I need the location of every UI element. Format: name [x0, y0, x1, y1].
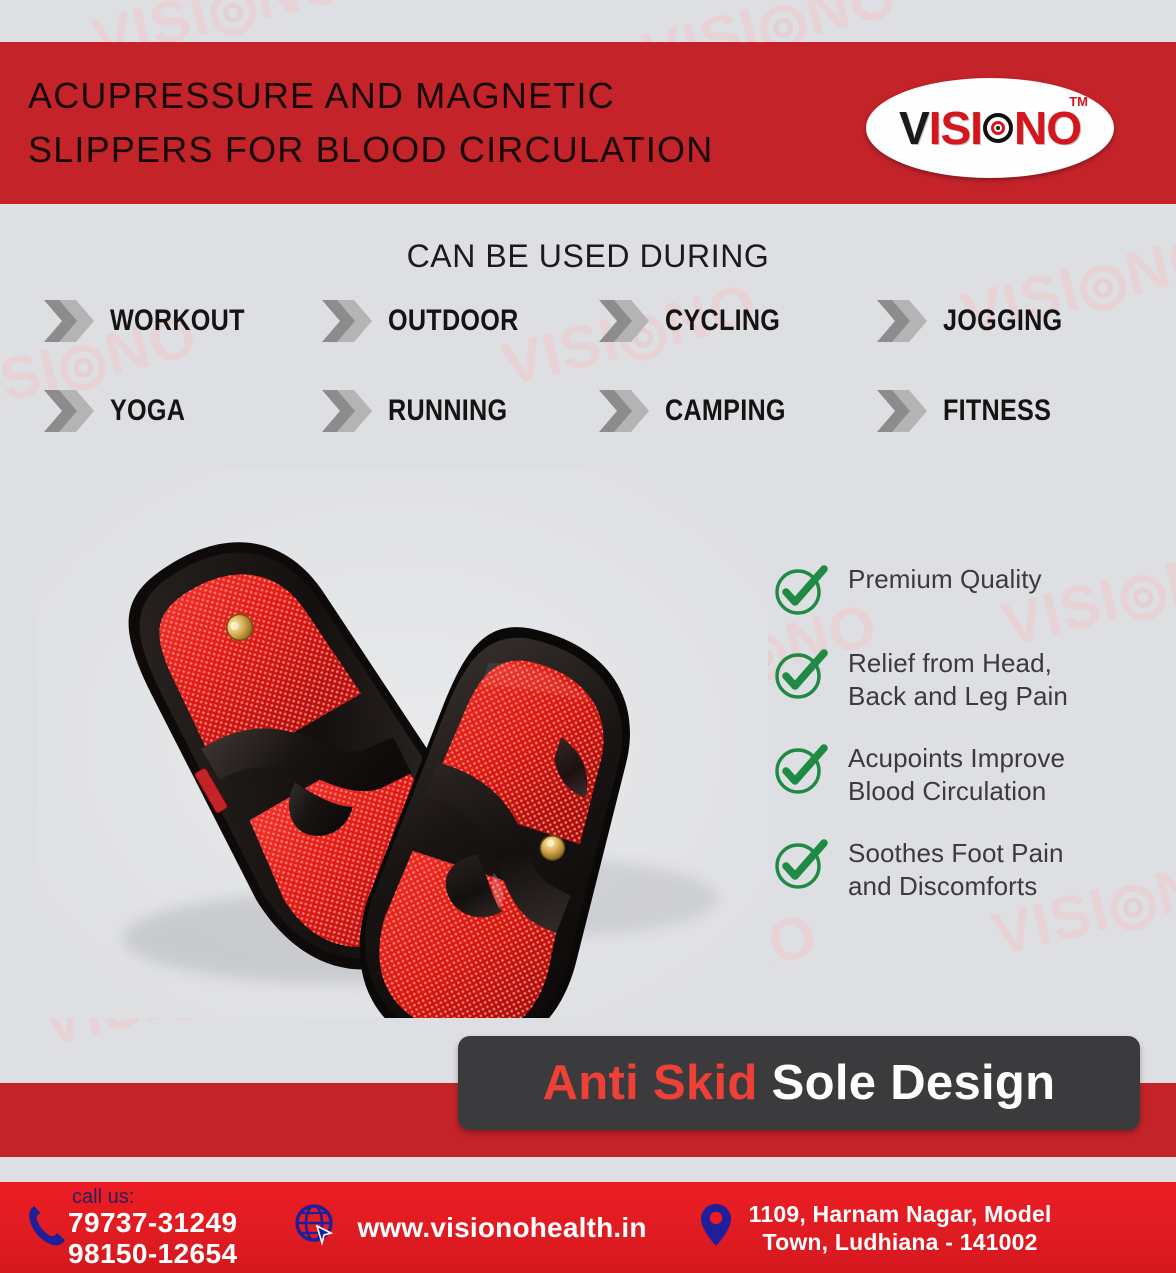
- benefit-item-foot-pain: Soothes Foot Pain and Discomforts: [772, 834, 1164, 903]
- usage-item-yoga: YOGA: [42, 388, 320, 434]
- usage-item-label: OUTDOOR: [388, 304, 519, 338]
- benefit-text: Premium Quality: [848, 560, 1042, 596]
- page-title: ACUPRESSURE AND MAGNETIC SLIPPERS FOR BL…: [28, 69, 788, 177]
- double-chevron-right-icon: [42, 388, 96, 434]
- double-chevron-right-icon: [875, 298, 929, 344]
- usage-item-label: FITNESS: [943, 394, 1051, 428]
- double-chevron-right-icon: [875, 388, 929, 434]
- double-chevron-right-icon: [42, 298, 96, 344]
- address-text: 1109, Harnam Nagar, Model Town, Ludhiana…: [749, 1200, 1052, 1256]
- usage-item-label: CYCLING: [665, 304, 780, 338]
- benefit-item-blood-circulation: Acupoints Improve Blood Circulation: [772, 739, 1164, 808]
- address-line-2: Town, Ludhiana - 141002: [749, 1228, 1052, 1256]
- logo-letter-v: V: [899, 105, 929, 151]
- usage-item-camping: CAMPING: [597, 388, 875, 434]
- green-check-circle-icon: [772, 741, 828, 797]
- benefit-line: Premium Quality: [848, 564, 1042, 594]
- globe-cursor-icon: [293, 1202, 339, 1253]
- page-title-line2: SLIPPERS FOR BLOOD CIRCULATION: [28, 123, 788, 177]
- website-url[interactable]: www.visionohealth.in: [357, 1212, 646, 1244]
- usage-list: WORKOUT OUTDOOR CYCLING JOGGING YOGA: [42, 298, 1152, 434]
- benefit-item-pain-relief: Relief from Head, Back and Leg Pain: [772, 644, 1164, 713]
- map-pin-icon: [699, 1201, 733, 1254]
- logo-letter-o: O: [1046, 105, 1081, 151]
- benefit-line: and Discomforts: [848, 871, 1037, 901]
- green-check-circle-icon: [772, 836, 828, 892]
- usage-item-cycling: CYCLING: [597, 298, 875, 344]
- usage-item-jogging: JOGGING: [875, 298, 1153, 344]
- page-title-line1: ACUPRESSURE AND MAGNETIC: [28, 75, 615, 116]
- footer-phone-text: call us: 79737-31249 98150-12654: [68, 1187, 237, 1269]
- logo-letters-isi: ISI: [929, 105, 982, 151]
- footer-website-block[interactable]: www.visionohealth.in: [293, 1202, 646, 1253]
- usage-section-heading: CAN BE USED DURING: [0, 238, 1176, 275]
- benefit-text: Acupoints Improve Blood Circulation: [848, 739, 1065, 808]
- brand-logo: VISINO TM: [866, 78, 1114, 178]
- usage-item-fitness: FITNESS: [875, 388, 1153, 434]
- footer-address-block: 1109, Harnam Nagar, Model Town, Ludhiana…: [699, 1200, 1052, 1256]
- benefit-line: Soothes Foot Pain: [848, 838, 1064, 868]
- phone-number-2[interactable]: 98150-12654: [68, 1238, 237, 1269]
- double-chevron-right-icon: [320, 298, 374, 344]
- trademark-mark: TM: [1069, 94, 1088, 109]
- footer-phone-block[interactable]: call us: 79737-31249 98150-12654: [24, 1187, 237, 1269]
- benefit-line: Acupoints Improve: [848, 743, 1065, 773]
- bullseye-target-icon: [983, 113, 1013, 143]
- usage-item-label: YOGA: [110, 394, 185, 428]
- usage-item-label: WORKOUT: [110, 304, 245, 338]
- usage-item-label: CAMPING: [665, 394, 786, 428]
- benefit-text: Relief from Head, Back and Leg Pain: [848, 644, 1068, 713]
- address-line-1: 1109, Harnam Nagar, Model: [749, 1200, 1052, 1228]
- usage-item-label: JOGGING: [943, 304, 1062, 338]
- usage-item-label: RUNNING: [388, 394, 507, 428]
- contact-footer: call us: 79737-31249 98150-12654 www.vis…: [0, 1182, 1176, 1273]
- benefit-line: Relief from Head,: [848, 648, 1052, 678]
- usage-item-workout: WORKOUT: [42, 298, 320, 344]
- green-check-circle-icon: [772, 646, 828, 702]
- benefit-line: Blood Circulation: [848, 776, 1046, 806]
- benefit-item-premium-quality: Premium Quality: [772, 560, 1164, 618]
- benefits-list: Premium Quality Relief from Head, Back a…: [772, 560, 1164, 929]
- phone-number-1[interactable]: 79737-31249: [68, 1207, 237, 1238]
- usage-item-running: RUNNING: [320, 388, 598, 434]
- brand-logo-wordmark: VISINO: [899, 105, 1081, 151]
- call-us-label: call us:: [72, 1187, 237, 1207]
- double-chevron-right-icon: [320, 388, 374, 434]
- product-photo: [38, 468, 768, 1018]
- benefit-line: Back and Leg Pain: [848, 681, 1068, 711]
- benefit-text: Soothes Foot Pain and Discomforts: [848, 834, 1064, 903]
- phone-handset-icon: [24, 1200, 68, 1255]
- double-chevron-right-icon: [597, 298, 651, 344]
- usage-item-outdoor: OUTDOOR: [320, 298, 598, 344]
- green-check-circle-icon: [772, 562, 828, 618]
- double-chevron-right-icon: [597, 388, 651, 434]
- antiskid-highlight-text: Anti Skid: [543, 1055, 758, 1111]
- antiskid-callout: Anti Skid Sole Design: [458, 1036, 1140, 1130]
- antiskid-main-text: Sole Design: [772, 1055, 1056, 1111]
- logo-letter-n: N: [1014, 105, 1046, 151]
